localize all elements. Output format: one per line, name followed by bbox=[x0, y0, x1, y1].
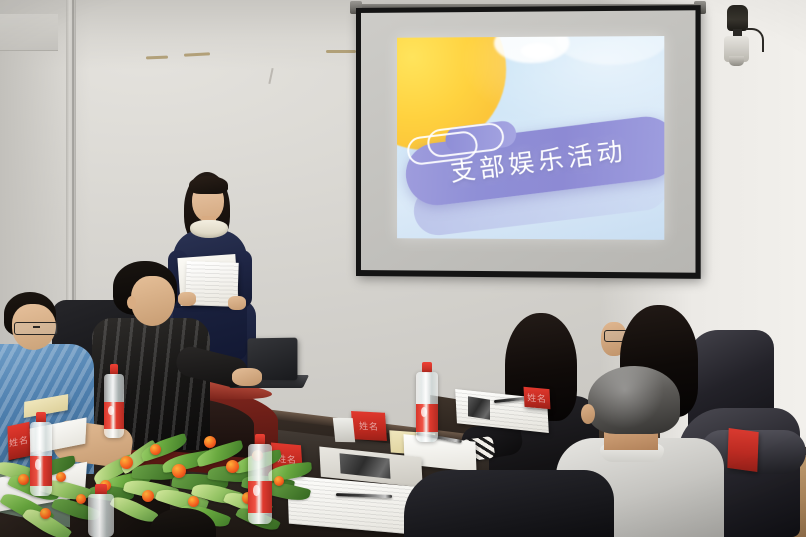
bottled-water[interactable] bbox=[416, 362, 438, 442]
orange-flower bbox=[76, 494, 86, 504]
document-photo-block bbox=[468, 396, 490, 419]
name-tent-card-fold bbox=[333, 418, 355, 443]
wall-panel bbox=[0, 14, 58, 51]
bottle-body bbox=[88, 494, 114, 537]
bottled-water[interactable] bbox=[104, 364, 124, 438]
orange-flower bbox=[40, 508, 51, 519]
presenter-hair-fringe bbox=[189, 176, 228, 194]
wall-pipe-seam bbox=[72, 0, 74, 300]
name-tent-card-text: 姓名 bbox=[527, 391, 548, 406]
orange-flower bbox=[142, 490, 154, 502]
name-tent-card: 姓名 bbox=[351, 411, 387, 441]
presenter-right-hand bbox=[228, 296, 246, 310]
orange-flower bbox=[56, 472, 66, 482]
projection-screen: 支部娱乐活动 bbox=[356, 5, 701, 279]
attendee-left-2-hand bbox=[232, 368, 262, 386]
bottled-water[interactable] bbox=[88, 484, 114, 537]
bottle-label bbox=[248, 481, 272, 513]
wall-scuff-mark bbox=[326, 50, 356, 53]
eyeglasses-icon bbox=[14, 322, 58, 335]
name-tent-card: 姓名 bbox=[523, 387, 550, 409]
bottle-label bbox=[416, 404, 438, 433]
orange-flower bbox=[18, 474, 29, 485]
orange-flower bbox=[204, 436, 216, 448]
bottled-water[interactable] bbox=[248, 434, 272, 524]
presenter-left-hand bbox=[178, 292, 196, 306]
attendee-front-right-ear bbox=[581, 404, 595, 424]
orange-flower bbox=[172, 464, 186, 478]
camera-lens bbox=[729, 56, 744, 66]
screen-surface: 支部娱乐活动 bbox=[361, 10, 695, 272]
orange-flower bbox=[188, 496, 199, 507]
attendee-left-2-ear bbox=[127, 296, 136, 309]
camera-mount bbox=[727, 5, 748, 31]
bottle-label bbox=[30, 456, 52, 486]
wall-pipe bbox=[66, 0, 76, 300]
orange-flower bbox=[274, 476, 284, 486]
name-tent-card bbox=[727, 428, 758, 472]
attendee-front-right-gray-hair bbox=[588, 366, 680, 434]
orange-flower bbox=[150, 444, 161, 455]
bottled-water[interactable] bbox=[30, 412, 52, 496]
bottle-label bbox=[104, 402, 124, 429]
presentation-slide: 支部娱乐活动 bbox=[397, 36, 664, 240]
meeting-room-photo: 支部娱乐活动 bbox=[0, 0, 806, 537]
orange-flower bbox=[226, 460, 239, 473]
name-tent-card-text: 姓名 bbox=[9, 432, 29, 449]
presenter-lace-collar bbox=[190, 220, 228, 238]
eyeglasses-bridge bbox=[33, 326, 40, 328]
name-tent-card-text: 姓名 bbox=[359, 419, 380, 433]
office-chair-foreground[interactable] bbox=[404, 470, 614, 537]
